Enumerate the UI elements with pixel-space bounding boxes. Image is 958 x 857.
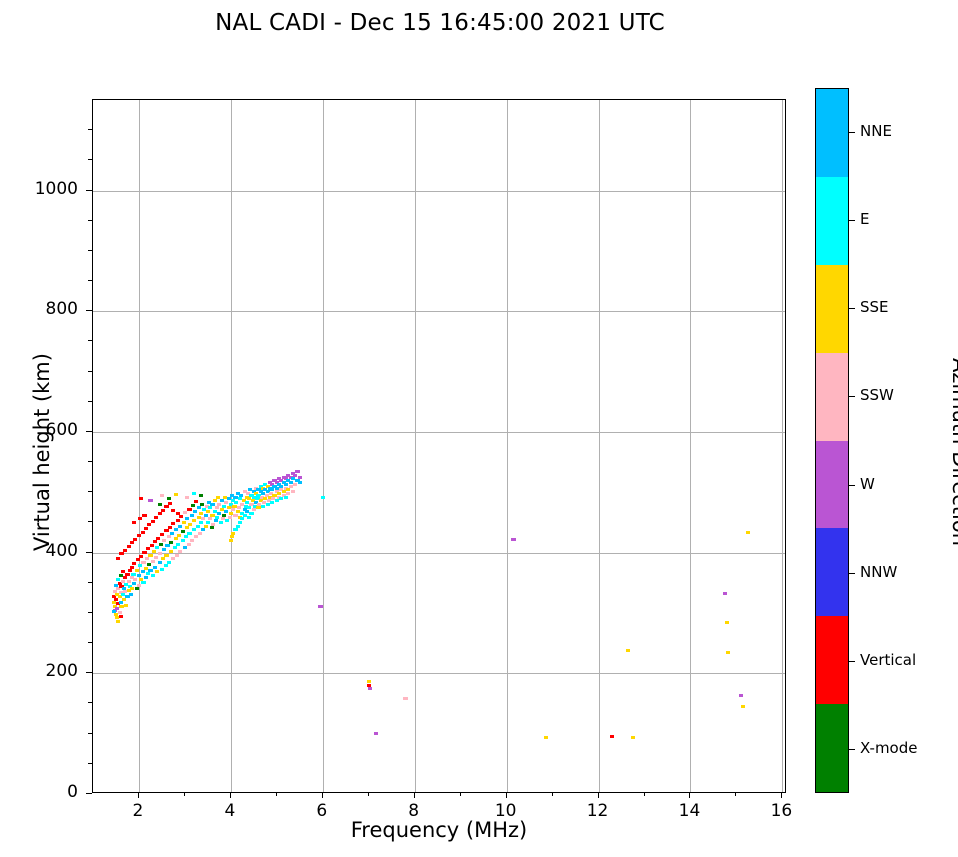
y-minor-tick-mark — [88, 220, 92, 221]
y-minor-tick-mark — [88, 612, 92, 613]
x-axis-label: Frequency (MHz) — [92, 818, 786, 842]
data-point — [215, 516, 219, 519]
x-tick-label: 4 — [200, 801, 260, 821]
data-point — [214, 519, 218, 522]
y-tick-mark — [86, 431, 92, 432]
data-point — [170, 532, 174, 535]
data-point — [224, 510, 228, 513]
data-point — [210, 514, 214, 517]
y-tick-label: 800 — [18, 299, 78, 319]
data-point — [238, 521, 242, 524]
colorbar-tick-mark — [849, 396, 855, 397]
data-point — [293, 483, 297, 486]
data-point — [208, 517, 212, 520]
data-point — [133, 578, 137, 581]
x-minor-tick-mark — [184, 793, 185, 796]
data-point — [174, 493, 178, 496]
data-point — [245, 510, 249, 513]
data-point — [211, 523, 215, 526]
gridline-vertical — [782, 100, 783, 792]
colorbar-tick-mark — [849, 573, 855, 574]
x-minor-tick-mark — [552, 793, 553, 796]
data-point — [129, 593, 133, 596]
data-point — [230, 535, 234, 538]
plot-area — [92, 99, 786, 793]
data-point — [201, 517, 205, 520]
data-point — [249, 512, 253, 515]
data-point — [132, 562, 136, 565]
colorbar-tick-mark — [849, 308, 855, 309]
data-point — [160, 568, 164, 571]
data-point — [511, 538, 515, 541]
data-point — [121, 570, 125, 573]
y-tick-label: 400 — [18, 541, 78, 561]
data-point — [160, 533, 164, 536]
data-point — [137, 584, 141, 587]
x-tick-mark — [598, 793, 599, 798]
gridline-vertical — [507, 100, 508, 792]
colorbar[interactable] — [815, 88, 849, 793]
data-point — [215, 506, 219, 509]
data-point — [173, 546, 177, 549]
data-point — [237, 506, 241, 509]
data-point — [158, 552, 162, 555]
data-point — [240, 517, 244, 520]
data-point — [154, 556, 158, 559]
data-point — [114, 598, 118, 601]
y-tick-mark — [86, 672, 92, 673]
data-point — [200, 503, 204, 506]
x-tick-label: 14 — [659, 801, 719, 821]
x-tick-label: 8 — [384, 801, 444, 821]
data-point — [136, 558, 140, 561]
data-point — [197, 516, 201, 519]
gridline-horizontal — [93, 673, 785, 674]
x-minor-tick-mark — [368, 793, 369, 796]
colorbar-label-e: E — [860, 210, 869, 228]
data-point — [112, 610, 116, 613]
data-point — [199, 512, 203, 515]
data-point — [217, 512, 221, 515]
y-minor-tick-mark — [88, 280, 92, 281]
data-point — [116, 557, 120, 560]
data-point — [726, 651, 730, 654]
colorbar-label-sse: SSE — [860, 298, 889, 316]
data-point — [279, 497, 283, 500]
data-point — [236, 510, 240, 513]
data-point — [193, 510, 197, 513]
data-point — [318, 605, 322, 608]
data-point — [158, 503, 162, 506]
data-point — [187, 543, 191, 546]
y-minor-tick-mark — [88, 733, 92, 734]
data-point — [194, 535, 198, 538]
data-point — [194, 500, 198, 503]
y-tick-mark — [86, 552, 92, 553]
data-point — [190, 539, 194, 542]
data-point — [234, 501, 238, 504]
data-point — [138, 517, 142, 520]
data-point — [252, 508, 256, 511]
data-point — [183, 546, 187, 549]
ionogram-figure: NAL CADI - Dec 15 16:45:00 2021 UTC Freq… — [0, 0, 958, 857]
data-point — [610, 735, 614, 738]
data-point — [124, 604, 128, 607]
data-point — [210, 526, 214, 529]
gridline-horizontal — [93, 191, 785, 192]
data-point — [261, 505, 265, 508]
data-point — [204, 514, 208, 517]
data-point — [169, 550, 173, 553]
data-point — [289, 481, 293, 484]
data-point — [122, 598, 126, 601]
data-point — [135, 569, 139, 572]
data-point — [739, 694, 743, 697]
data-point — [122, 587, 126, 590]
data-point — [321, 496, 325, 499]
data-point — [192, 519, 196, 522]
data-point — [206, 521, 210, 524]
colorbar-segment-e[interactable] — [816, 177, 848, 265]
data-point — [182, 521, 186, 524]
data-point — [119, 574, 123, 577]
data-point — [151, 574, 155, 577]
data-point — [219, 521, 223, 524]
data-point — [272, 494, 276, 497]
data-point — [222, 514, 226, 517]
colorbar-segment-x-mode[interactable] — [816, 704, 848, 792]
y-minor-tick-mark — [88, 340, 92, 341]
data-point — [168, 526, 172, 529]
data-point — [155, 546, 159, 549]
y-minor-tick-mark — [88, 129, 92, 130]
x-tick-mark — [781, 793, 782, 798]
colorbar-label-nne: NNE — [860, 122, 892, 140]
data-point — [161, 509, 165, 512]
data-point — [233, 514, 237, 517]
data-point — [191, 504, 195, 507]
x-tick-label: 10 — [476, 801, 536, 821]
data-point — [277, 492, 281, 495]
y-minor-tick-mark — [88, 582, 92, 583]
y-tick-mark — [86, 190, 92, 191]
data-point — [141, 561, 145, 564]
data-point — [201, 528, 205, 531]
data-point — [298, 476, 302, 479]
x-tick-label: 6 — [292, 801, 352, 821]
data-point — [233, 496, 237, 499]
data-point — [164, 564, 168, 567]
y-minor-tick-mark — [88, 491, 92, 492]
data-point — [224, 501, 228, 504]
data-point — [225, 519, 229, 522]
data-point — [232, 505, 236, 508]
y-minor-tick-mark — [88, 521, 92, 522]
data-point — [167, 535, 171, 538]
data-point — [119, 615, 123, 618]
data-point — [142, 514, 146, 517]
data-point — [161, 557, 165, 560]
gridline-vertical — [415, 100, 416, 792]
data-point — [146, 572, 150, 575]
colorbar-tick-mark — [849, 220, 855, 221]
data-point — [256, 506, 260, 509]
data-point — [183, 511, 187, 514]
data-point — [289, 485, 293, 488]
data-point — [239, 494, 243, 497]
data-point — [171, 509, 175, 512]
data-point — [141, 570, 145, 573]
colorbar-title: Azimuth Direction — [948, 287, 958, 617]
y-tick-label: 200 — [18, 661, 78, 681]
y-tick-mark — [86, 793, 92, 794]
data-point — [544, 736, 548, 739]
data-point — [175, 554, 179, 557]
data-point — [181, 530, 185, 533]
data-point — [270, 488, 274, 491]
y-tick-label: 1000 — [18, 179, 78, 199]
data-point — [247, 506, 251, 509]
data-point — [185, 496, 189, 499]
data-point — [199, 521, 203, 524]
data-point — [123, 576, 127, 579]
data-point — [119, 605, 123, 608]
data-point — [125, 573, 129, 576]
data-point — [199, 494, 203, 497]
data-point — [293, 474, 297, 477]
data-point — [295, 470, 299, 473]
data-point — [116, 620, 120, 623]
data-point — [165, 544, 169, 547]
data-point — [167, 561, 171, 564]
data-point — [275, 487, 279, 490]
y-minor-tick-mark — [88, 159, 92, 160]
data-point — [196, 525, 200, 528]
data-point — [181, 539, 185, 542]
data-point — [137, 574, 141, 577]
data-point — [213, 499, 217, 502]
data-point — [176, 543, 180, 546]
data-point — [725, 621, 729, 624]
data-point — [266, 503, 270, 506]
colorbar-segment-vertical[interactable] — [816, 616, 848, 704]
data-point — [142, 551, 146, 554]
x-tick-label: 2 — [108, 801, 168, 821]
data-point — [139, 555, 143, 558]
data-point — [192, 492, 196, 495]
data-point — [148, 499, 152, 502]
colorbar-label-x-mode: X-mode — [860, 739, 917, 757]
data-point — [178, 525, 182, 528]
data-point — [222, 505, 226, 508]
data-point — [123, 549, 127, 552]
x-tick-label: 12 — [568, 801, 628, 821]
data-point — [174, 528, 178, 531]
data-point — [291, 490, 295, 493]
data-point — [403, 697, 407, 700]
data-point — [164, 505, 168, 508]
data-point — [723, 592, 727, 595]
data-point — [159, 543, 163, 546]
data-point — [162, 548, 166, 551]
data-point — [141, 581, 145, 584]
data-point — [368, 687, 372, 690]
data-point — [247, 516, 251, 519]
data-point — [298, 481, 302, 484]
data-point — [631, 736, 635, 739]
data-point — [270, 501, 274, 504]
colorbar-segment-w[interactable] — [816, 441, 848, 529]
data-point — [151, 520, 155, 523]
data-point — [139, 497, 143, 500]
data-point — [286, 492, 290, 495]
data-point — [148, 569, 152, 572]
x-minor-tick-mark — [735, 793, 736, 796]
data-point — [128, 569, 132, 572]
data-point — [162, 539, 166, 542]
colorbar-tick-mark — [849, 132, 855, 133]
colorbar-segment-ssw[interactable] — [816, 353, 848, 441]
x-tick-mark — [414, 793, 415, 798]
data-point — [127, 545, 131, 548]
x-tick-mark — [322, 793, 323, 798]
data-point — [155, 570, 159, 573]
data-point — [227, 497, 231, 500]
data-point — [245, 501, 249, 504]
data-point — [741, 705, 745, 708]
data-point — [275, 499, 279, 502]
data-point — [133, 538, 137, 541]
data-point — [144, 576, 148, 579]
y-tick-label: 600 — [18, 420, 78, 440]
data-point — [147, 563, 151, 566]
data-point — [746, 531, 750, 534]
data-point — [146, 547, 150, 550]
data-point — [231, 508, 235, 511]
data-point — [130, 566, 134, 569]
colorbar-tick-mark — [849, 749, 855, 750]
data-point — [160, 494, 164, 497]
data-point — [130, 541, 134, 544]
data-point — [286, 488, 290, 491]
data-point — [213, 510, 217, 513]
data-point — [176, 519, 180, 522]
y-minor-tick-mark — [88, 371, 92, 372]
data-point — [151, 560, 155, 563]
gridline-horizontal — [93, 432, 785, 433]
data-point — [153, 566, 157, 569]
x-minor-tick-mark — [276, 793, 277, 796]
data-point — [192, 528, 196, 531]
data-point — [233, 528, 237, 531]
data-point — [154, 516, 158, 519]
gridline-horizontal — [93, 553, 785, 554]
data-point — [216, 496, 220, 499]
gridline-vertical — [599, 100, 600, 792]
y-minor-tick-mark — [88, 642, 92, 643]
x-tick-mark — [689, 793, 690, 798]
data-point — [208, 506, 212, 509]
data-point — [227, 506, 231, 509]
data-point — [210, 503, 214, 506]
y-tick-mark — [86, 310, 92, 311]
colorbar-segment-sse[interactable] — [816, 265, 848, 353]
data-point — [147, 523, 151, 526]
y-tick-label: 0 — [18, 782, 78, 802]
colorbar-label-w: W — [860, 475, 875, 493]
data-point — [119, 552, 123, 555]
data-point — [171, 522, 175, 525]
data-point — [131, 573, 135, 576]
data-point — [197, 506, 201, 509]
data-point — [188, 523, 192, 526]
data-point — [229, 539, 233, 542]
data-point — [144, 527, 148, 530]
x-tick-mark — [230, 793, 231, 798]
data-point — [221, 517, 225, 520]
data-point — [118, 611, 122, 614]
data-point — [187, 532, 191, 535]
data-point — [148, 554, 152, 557]
data-point — [138, 564, 142, 567]
x-minor-tick-mark — [644, 793, 645, 796]
y-minor-tick-mark — [88, 702, 92, 703]
data-point — [150, 544, 154, 547]
page-title: NAL CADI - Dec 15 16:45:00 2021 UTC — [0, 10, 880, 36]
data-point — [198, 532, 202, 535]
data-point — [374, 732, 378, 735]
data-point — [177, 534, 181, 537]
gridline-horizontal — [93, 311, 785, 312]
data-point — [164, 554, 168, 557]
colorbar-segment-nne[interactable] — [816, 89, 848, 177]
colorbar-segment-nnw[interactable] — [816, 528, 848, 616]
data-point — [190, 514, 194, 517]
data-point — [291, 477, 295, 480]
data-point — [144, 567, 148, 570]
colorbar-label-vertical: Vertical — [860, 651, 916, 669]
data-point — [279, 485, 283, 488]
gridline-vertical — [139, 100, 140, 792]
data-point — [167, 497, 171, 500]
data-point — [284, 496, 288, 499]
data-point — [236, 525, 240, 528]
y-minor-tick-mark — [88, 401, 92, 402]
gridline-vertical — [690, 100, 691, 792]
data-point — [169, 541, 173, 544]
colorbar-tick-mark — [849, 661, 855, 662]
data-point — [171, 557, 175, 560]
x-tick-mark — [138, 793, 139, 798]
data-point — [178, 550, 182, 553]
data-point — [176, 512, 180, 515]
y-minor-tick-mark — [88, 250, 92, 251]
data-point — [132, 582, 136, 585]
data-point — [156, 537, 160, 540]
data-point — [153, 540, 157, 543]
data-point — [132, 521, 136, 524]
data-point — [243, 514, 247, 517]
colorbar-label-nnw: NNW — [860, 563, 897, 581]
data-point — [130, 587, 134, 590]
x-minor-tick-mark — [460, 793, 461, 796]
data-point — [220, 499, 224, 502]
data-point — [231, 532, 235, 535]
data-point — [158, 561, 162, 564]
data-point — [367, 680, 371, 683]
data-point — [121, 593, 125, 596]
data-point — [158, 512, 162, 515]
